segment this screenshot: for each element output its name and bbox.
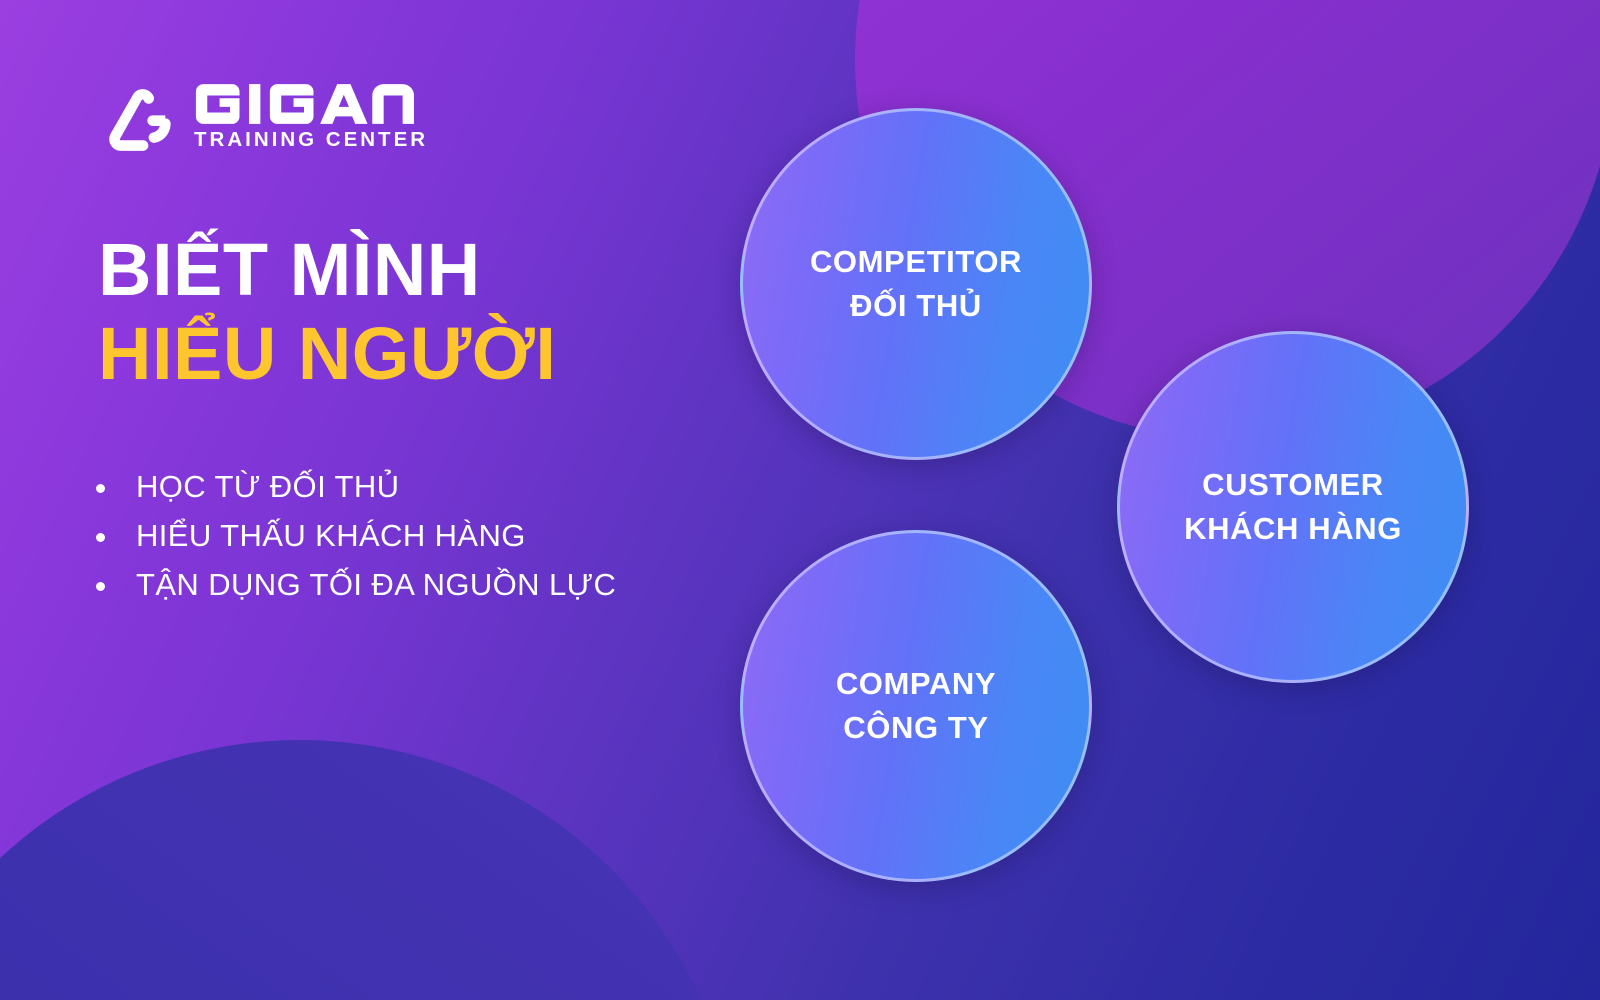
left-content-column: TRAINING CENTER BIẾT MÌNH HIỂU NGƯỜI HỌC… [0,0,720,1000]
circle-customer[interactable]: CUSTOMER KHÁCH HÀNG [1117,331,1469,683]
brand-tagline: TRAINING CENTER [194,130,428,151]
circle-company[interactable]: COMPANY CÔNG TY [740,530,1092,882]
gigan-triangle-g-logo-icon [104,84,182,162]
circle-competitor[interactable]: COMPETITOR ĐỐI THỦ [740,108,1092,460]
slide-canvas: TRAINING CENTER BIẾT MÌNH HIỂU NGƯỜI HỌC… [0,0,1600,1000]
brand-logo[interactable]: TRAINING CENTER [104,82,428,162]
circle-company-label-vi: CÔNG TY [843,706,988,750]
bullet-list: HỌC TỪ ĐỐI THỦ HIỂU THẤU KHÁCH HÀNG TẬN … [90,463,616,610]
circle-customer-label-vi: KHÁCH HÀNG [1184,507,1402,551]
headline-line-1: BIẾT MÌNH [98,228,718,312]
circle-competitor-label-en: COMPETITOR [810,240,1022,284]
list-item: HỌC TỪ ĐỐI THỦ [90,463,616,512]
headline-block: BIẾT MÌNH HIỂU NGƯỜI [98,228,718,397]
circle-company-label-en: COMPANY [836,662,996,706]
gigan-wordmark-icon [194,82,414,126]
list-item: HIỂU THẤU KHÁCH HÀNG [90,512,616,561]
list-item: TẬN DỤNG TỐI ĐA NGUỒN LỰC [90,561,616,610]
circle-competitor-label-vi: ĐỐI THỦ [850,284,982,328]
headline-line-2: HIỂU NGƯỜI [98,312,718,396]
brand-logo-text: TRAINING CENTER [194,82,428,151]
circle-customer-label-en: CUSTOMER [1202,463,1384,507]
